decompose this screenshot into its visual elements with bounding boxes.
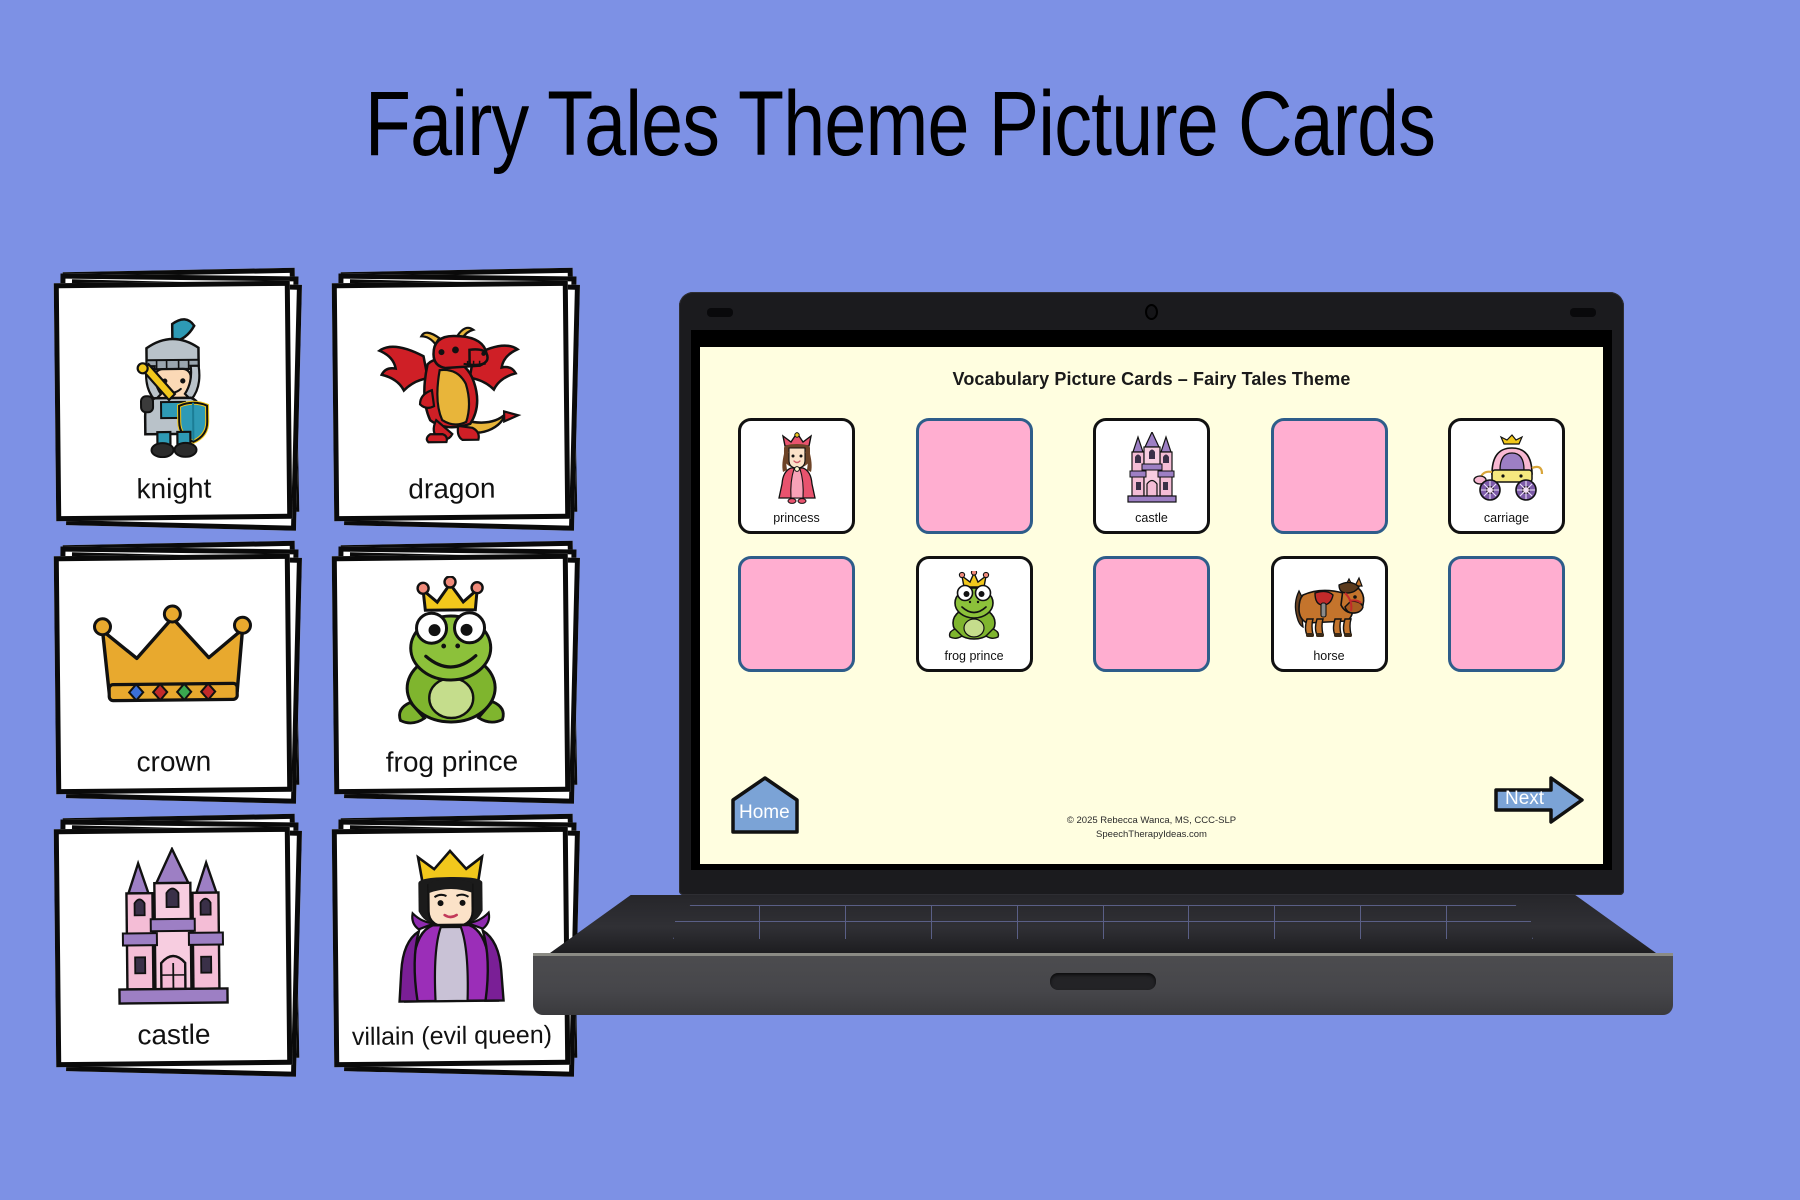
slide-card-castle[interactable]: castle [1093,418,1210,534]
power-indicator-icon [1622,905,1634,911]
key-column [760,906,846,939]
card-front[interactable]: villain (evil queen) [332,827,570,1067]
slide-card-hidden[interactable] [1271,418,1388,534]
laptop-bezel [679,292,1624,330]
slide-card-label: castle [1135,511,1168,531]
laptop-keyboard-deck [550,895,1656,953]
slide-card-row: princess [738,418,1565,534]
copyright-line: © 2025 Rebecca Wanca, MS, CCC-SLP [700,814,1603,828]
bezel-dash-right-icon [1570,308,1596,317]
frog-prince-icon [337,559,565,747]
laptop-lid: Vocabulary Picture Cards – Fairy Tales T… [679,292,1624,895]
screen-frame: Vocabulary Picture Cards – Fairy Tales T… [691,330,1612,870]
card-stack-castle[interactable]: castle [55,824,301,1072]
card-label: frog prince [386,745,519,788]
slide-card-carriage[interactable]: carriage [1448,418,1565,534]
castle-icon [1096,421,1207,511]
evil-queen-icon [337,832,565,1023]
slide-card-row: frog prince [738,556,1565,672]
card-front[interactable]: dragon [332,281,570,521]
keyboard-icon [673,905,1533,939]
card-front[interactable]: frog prince [332,554,570,794]
slide-card-grid: princess [700,418,1603,672]
slide-viewport: Vocabulary Picture Cards – Fairy Tales T… [700,347,1603,864]
castle-icon [59,832,287,1020]
bezel-dash-left-icon [707,308,733,317]
carriage-icon [1451,421,1562,511]
card-label: villain (evil queen) [352,1021,553,1062]
key-column [846,906,932,939]
card-stack-knight[interactable]: knight [55,278,301,526]
key-column [674,906,760,939]
card-stack-villain[interactable]: villain (evil queen) [333,824,579,1072]
laptop-mockup: Vocabulary Picture Cards – Fairy Tales T… [630,292,1673,1015]
slide-card-label: princess [773,511,820,531]
card-label: crown [136,746,211,789]
dragon-icon [337,286,565,474]
card-front[interactable]: crown [54,554,292,794]
slide-card-hidden[interactable] [738,556,855,672]
slide-card-hidden[interactable] [1093,556,1210,672]
frog-prince-icon [919,559,1030,649]
page-title: Fairy Tales Theme Picture Cards [162,78,1638,170]
keyboard-row-divider [675,921,1531,922]
card-label: dragon [408,473,496,516]
slide-title: Vocabulary Picture Cards – Fairy Tales T… [700,347,1603,390]
latch-notch-icon [1050,973,1156,990]
key-column [1018,906,1104,939]
card-stack-row: knight [55,278,595,526]
card-label: castle [137,1019,211,1062]
key-column [1189,906,1275,939]
key-column [932,906,1018,939]
slide-card-princess[interactable]: princess [738,418,855,534]
knight-icon [59,286,287,474]
card-stack-crown[interactable]: crown [55,551,301,799]
card-stack-row: crown [55,551,595,799]
slide-card-label: horse [1313,649,1344,669]
slide-card-hidden[interactable] [1448,556,1565,672]
slide-footer: © 2025 Rebecca Wanca, MS, CCC-SLP Speech… [700,814,1603,843]
crown-icon [59,559,287,747]
website-line: SpeechTherapyIdeas.com [700,828,1603,842]
horse-icon [1274,559,1385,649]
key-column [1361,906,1447,939]
card-stack-row: castle [55,824,595,1072]
princess-icon [741,421,852,511]
printed-card-stacks: knight [55,278,595,1097]
card-stack-frog-prince[interactable]: frog prince [333,551,579,799]
laptop-front-edge [533,953,1673,1015]
card-label: knight [136,473,211,516]
slide-card-frog-prince[interactable]: frog prince [916,556,1033,672]
webcam-icon [1145,304,1158,320]
slide-card-label: frog prince [944,649,1003,669]
card-stack-dragon[interactable]: dragon [333,278,579,526]
key-column [1447,906,1532,939]
slide-card-horse[interactable]: horse [1271,556,1388,672]
key-column [1275,906,1361,939]
key-column [1104,906,1190,939]
card-front[interactable]: castle [54,827,292,1067]
card-front[interactable]: knight [54,281,292,521]
slide-card-label: carriage [1484,511,1529,531]
slide-card-hidden[interactable] [916,418,1033,534]
